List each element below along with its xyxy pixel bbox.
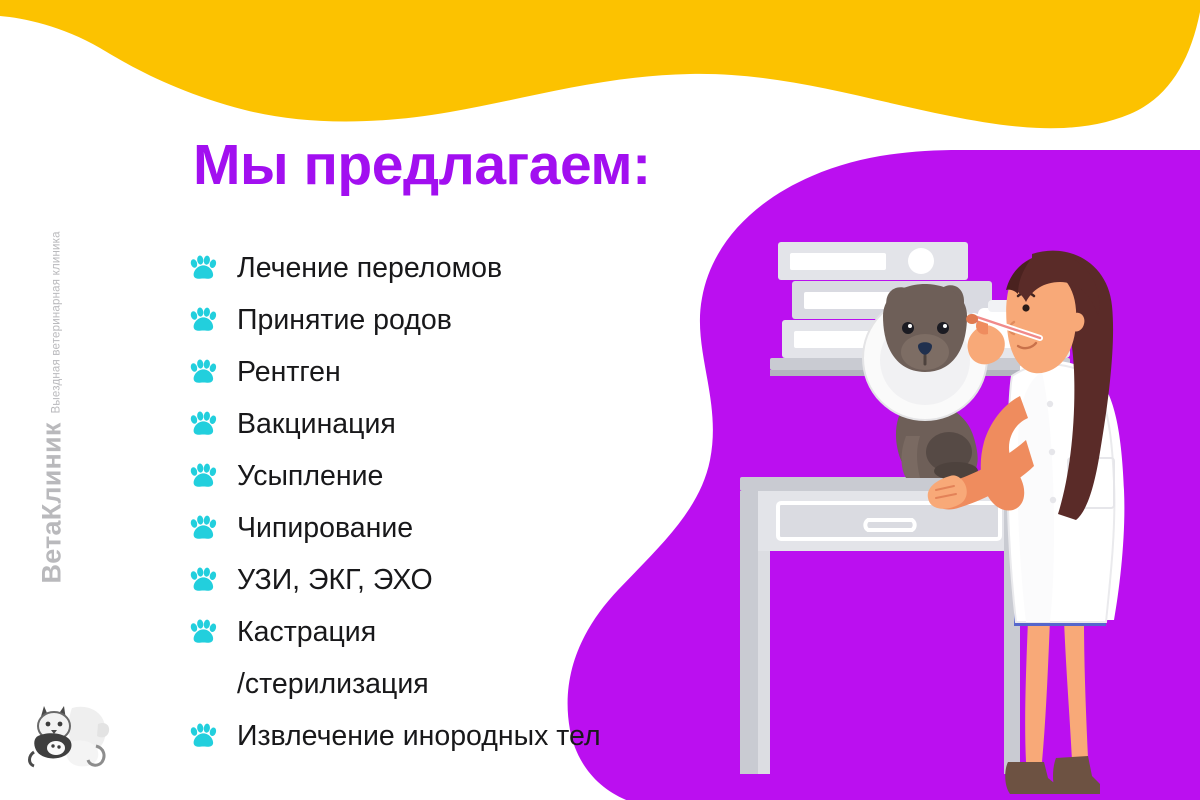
paw-print-icon: [188, 457, 220, 495]
list-item: Вакцинация: [188, 405, 798, 457]
service-label: Извлечение инородных тел: [237, 717, 601, 755]
paw-print-icon: [188, 353, 220, 391]
list-item: Рентген: [188, 353, 798, 405]
service-label: Принятие родов: [237, 301, 452, 339]
paw-print-icon: [188, 717, 220, 755]
list-item: УЗИ, ЭКГ, ЭХО: [188, 561, 798, 613]
service-label: Чипирование: [237, 509, 413, 547]
service-label: /стерилизация: [237, 665, 429, 703]
veterinarian-with-dog-illustration: [720, 190, 1200, 800]
list-item: Кастрация: [188, 613, 798, 665]
dog-with-cone-collar: [863, 284, 987, 482]
brand-name: ВетаКлиник: [39, 422, 66, 583]
paw-print-icon: [188, 509, 220, 547]
list-item: Принятие родов: [188, 301, 798, 353]
paw-print-icon: [188, 405, 220, 443]
service-label: Кастрация: [237, 613, 376, 651]
paw-print-icon: [188, 249, 220, 287]
examination-table: [740, 477, 1036, 774]
brand-vertical-lockup: ВетаКлиник Выездная ветеринарная клиника: [39, 304, 66, 584]
list-item-continuation: /стерилизация: [188, 665, 798, 717]
brand-rail: ВетаКлиник Выездная ветеринарная клиника: [0, 0, 140, 800]
paw-print-icon: [188, 613, 220, 651]
cat-dog-logo-icon: [26, 690, 112, 770]
service-label: Усыпление: [237, 457, 383, 495]
service-label: Вакцинация: [237, 405, 396, 443]
paw-print-icon: [188, 301, 220, 339]
paw-print-icon: [188, 561, 220, 599]
list-item: Усыпление: [188, 457, 798, 509]
poster-canvas: ВетаКлиник Выездная ветеринарная клиника…: [0, 0, 1200, 800]
service-label: Лечение переломов: [237, 249, 502, 287]
service-label: УЗИ, ЭКГ, ЭХО: [237, 561, 433, 599]
brand-tagline: Выездная ветеринарная клиника: [51, 231, 66, 413]
paw-print-icon-placeholder: [188, 665, 220, 703]
list-item: Извлечение инородных тел: [188, 717, 798, 769]
list-item: Лечение переломов: [188, 249, 798, 301]
list-item: Чипирование: [188, 509, 798, 561]
page-title: Мы предлагаем:: [193, 136, 651, 196]
service-label: Рентген: [237, 353, 341, 391]
services-list: Лечение переломов Принятие родов: [188, 249, 798, 769]
